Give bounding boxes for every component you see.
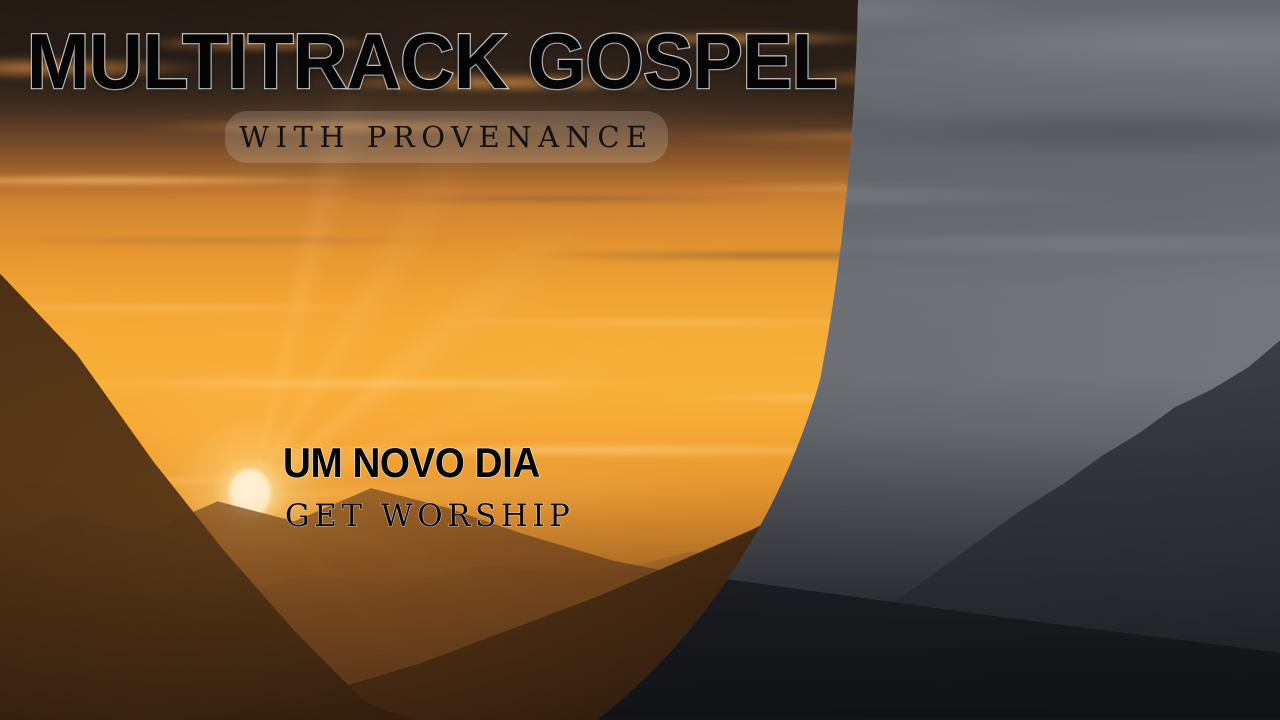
- song-title: UM NOVO DIA: [283, 442, 540, 484]
- page-title: MULTITRACK GOSPEL: [27, 22, 837, 100]
- artist-name: GET WORSHIP: [285, 501, 574, 532]
- subtitle: WITH PROVENANCE: [233, 118, 660, 156]
- banner-artwork: MULTITRACK GOSPEL WITH PROVENANCE UM NOV…: [0, 0, 1280, 720]
